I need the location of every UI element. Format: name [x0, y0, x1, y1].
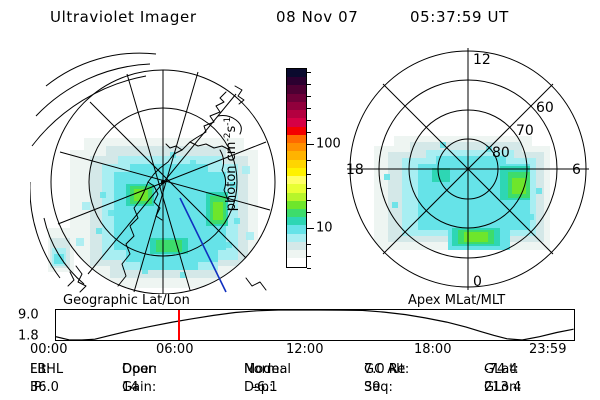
apex-dial-plot: 12 6 0 18 60 70 80: [340, 42, 596, 294]
colorbar-tick-1: [307, 84, 311, 85]
colorbar-band-23: [287, 258, 306, 266]
mode-value: Normal: [244, 362, 291, 377]
filter-value: LBHL: [30, 362, 63, 377]
colorbar-band-2: [287, 85, 306, 93]
status-footer: Flt: LBHL IP: 36.0 Door: Open Gain: 14 M…: [0, 362, 600, 400]
observation-date: 08 Nov 07: [276, 8, 358, 26]
colorbar-band-14: [287, 184, 306, 192]
colorbar-band-17: [287, 209, 306, 217]
colorbar-band-8: [287, 135, 306, 143]
colorbar-band-3: [287, 94, 306, 102]
colorbar-band-12: [287, 168, 306, 176]
colorbar-tick-13: [307, 244, 311, 245]
colorbar-tick-12: [307, 228, 314, 229]
colorbar-band-4: [287, 102, 306, 110]
colorbar-tick-5: [307, 132, 311, 133]
mlt-label-bottom: 0: [473, 274, 482, 290]
colorbar-tick-3: [307, 108, 311, 109]
glon-value: 213.4: [484, 380, 521, 395]
uvi-display: Ultraviolet Imager 08 Nov 07 05:37:59 UT: [0, 0, 600, 400]
colorbar-band-16: [287, 201, 306, 209]
colorbar-tick-4: [307, 120, 311, 121]
strip-y-axis-title: GC Alt: [0, 305, 2, 346]
colorbar-band-6: [287, 118, 306, 126]
mlt-label-left: 18: [346, 162, 364, 178]
apex-panel-caption: Apex MLat/MLT: [408, 293, 505, 308]
colorbar-band-5: [287, 110, 306, 118]
colorbar-tick-15: [307, 268, 311, 269]
geographic-plot: [30, 42, 280, 294]
instrument-title: Ultraviolet Imager: [50, 8, 197, 26]
colorbar-tick-0: [307, 72, 311, 73]
colorbar-band-10: [287, 151, 306, 159]
colorbar-tick-9: [307, 188, 311, 189]
header: Ultraviolet Imager 08 Nov 07 05:37:59 UT: [0, 6, 600, 30]
mlat-label-70: 70: [516, 123, 534, 139]
colorbar-band-11: [287, 160, 306, 168]
colorbar-band-1: [287, 77, 306, 85]
mlt-label-right: 6: [572, 162, 581, 178]
apex-panel: 12 6 0 18 60 70 80: [340, 42, 596, 294]
colorbar-label-10: 10: [316, 222, 333, 235]
orbit-altitude-strip: GC Alt 9.0 1.8 00:00 06:00 12:00 18:00 2…: [0, 309, 600, 355]
colorbar-band-22: [287, 250, 306, 258]
geographic-panel: [30, 42, 280, 294]
dsp-field: Dsp: -6.1: [244, 380, 252, 395]
colorbar-tick-11: [307, 212, 311, 213]
mlat-label-60: 60: [536, 100, 554, 116]
strip-xtick-4: 23:59: [529, 342, 566, 357]
aurora-emission-apex: [374, 136, 550, 250]
colorbar-ticks: 100 10: [307, 68, 337, 268]
geographic-panel-caption: Geographic Lat/Lon: [63, 293, 190, 308]
colorbar-band-9: [287, 143, 306, 151]
colorbar-label-100: 100: [316, 138, 341, 151]
colorbar-band-20: [287, 234, 306, 242]
strip-plot-area[interactable]: [55, 309, 575, 341]
mlt-label-top: 12: [473, 52, 491, 68]
mlat-label-80: 80: [492, 145, 510, 161]
colorbar-gradient: [286, 68, 307, 268]
gain-value: 14: [122, 380, 139, 395]
colorbar-tick-7: [307, 160, 311, 161]
colorbar-unit-exp2: -1: [223, 117, 233, 126]
ip-value: 36.0: [30, 380, 59, 395]
colorbar-band-19: [287, 225, 306, 233]
colorbar-tick-6: [307, 144, 314, 145]
colorbar-tick-14: [307, 256, 311, 257]
glat-value: -74.4: [484, 362, 518, 377]
strip-xtick-3: 18:00: [414, 342, 451, 357]
colorbar-band-7: [287, 127, 306, 135]
colorbar-band-18: [287, 217, 306, 225]
strip-xtick-2: 12:00: [286, 342, 323, 357]
apex-dial-grid: [347, 48, 589, 290]
door-value: Open: [122, 362, 157, 377]
colorbar-band-13: [287, 176, 306, 184]
current-time-marker: [178, 310, 180, 340]
colorbar-unit-s: s: [224, 126, 239, 133]
colorbar-band-21: [287, 242, 306, 250]
colorbar: photon cm-2s-1 100 10: [283, 60, 338, 285]
gcalt-value: 7.0 Re: [364, 362, 405, 377]
seq-value: 39: [364, 380, 381, 395]
observation-time: 05:37:59 UT: [410, 8, 509, 26]
colorbar-band-0: [287, 69, 306, 77]
colorbar-tick-10: [307, 200, 311, 201]
colorbar-unit-main: photon cm: [224, 142, 239, 212]
colorbar-tick-2: [307, 96, 311, 97]
colorbar-unit-exp1: -2: [223, 133, 233, 142]
colorbar-tick-8: [307, 174, 311, 175]
dsp-value: -6.1: [252, 380, 277, 395]
pole-marker: [161, 180, 165, 184]
altitude-curve: [56, 310, 574, 340]
strip-xtick-1: 06:00: [156, 342, 193, 357]
colorbar-axis-title: photon cm-2s-1: [223, 117, 239, 211]
colorbar-band-15: [287, 193, 306, 201]
strip-xtick-0: 00:00: [30, 342, 67, 357]
